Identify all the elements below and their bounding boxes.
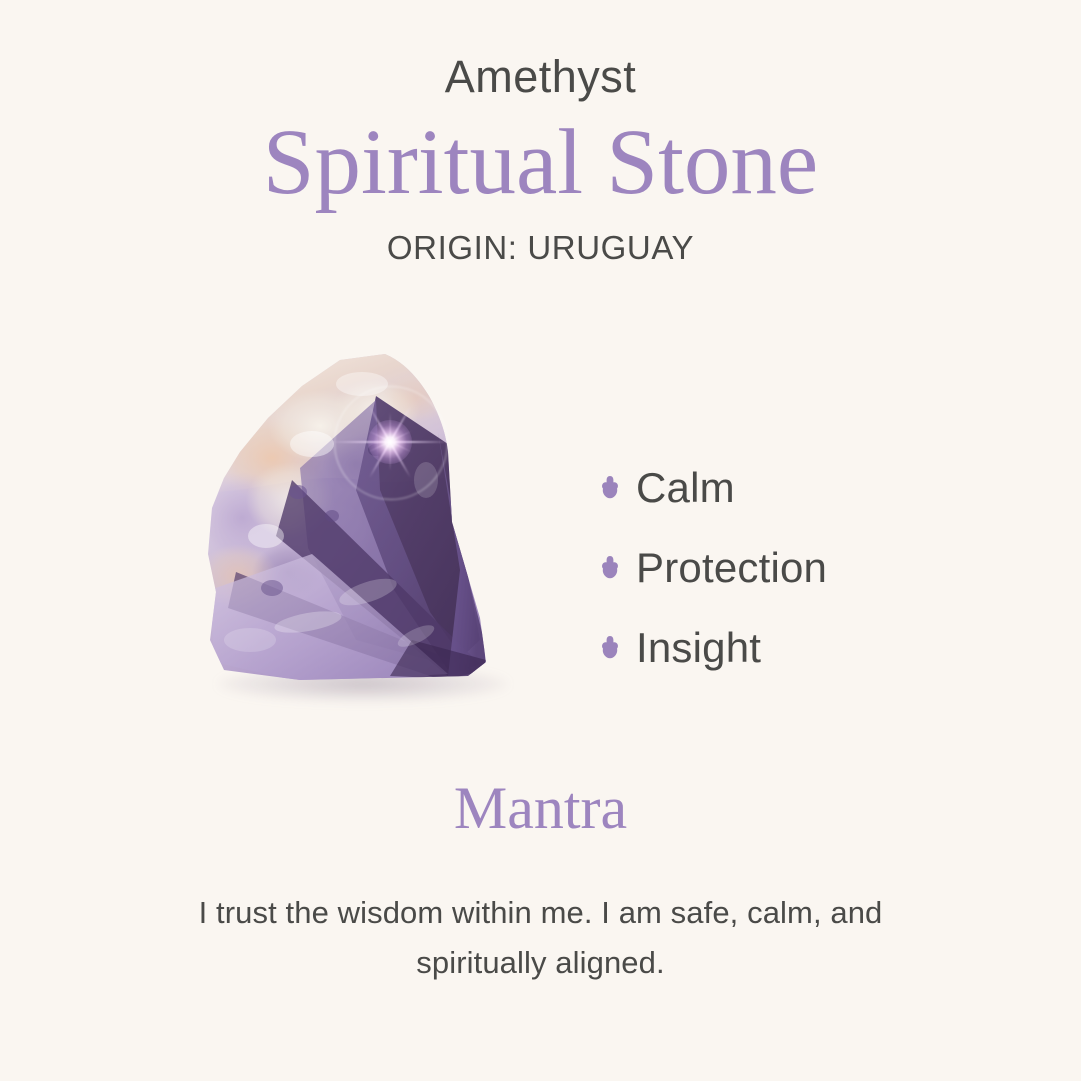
amethyst-crystal-icon: [180, 340, 540, 730]
mantra-section: Mantra I trust the wisdom within me. I a…: [0, 778, 1081, 988]
page-title: Spiritual Stone: [0, 116, 1081, 211]
stone-origin: ORIGIN: URUGUAY: [0, 231, 1081, 264]
list-item: Protection: [600, 528, 1020, 608]
list-item: Insight: [600, 608, 1020, 688]
mantra-heading: Mantra: [0, 778, 1081, 838]
gem-bullet-icon: [600, 555, 620, 581]
amethyst-stone-card: Amethyst Spiritual Stone ORIGIN: URUGUAY: [0, 0, 1081, 1081]
stone-name: Amethyst: [0, 54, 1081, 99]
gem-bullet-icon: [600, 475, 620, 501]
benefits-list: Calm Protection Insight: [600, 448, 1020, 688]
list-item: Calm: [600, 448, 1020, 528]
gem-bullet-icon: [600, 635, 620, 661]
crystal-illustration: [180, 340, 540, 730]
card-header: Amethyst Spiritual Stone ORIGIN: URUGUAY: [0, 54, 1081, 264]
benefit-label: Insight: [636, 627, 761, 669]
benefit-label: Protection: [636, 547, 827, 589]
mantra-text: I trust the wisdom within me. I am safe,…: [186, 888, 896, 988]
benefit-label: Calm: [636, 467, 735, 509]
